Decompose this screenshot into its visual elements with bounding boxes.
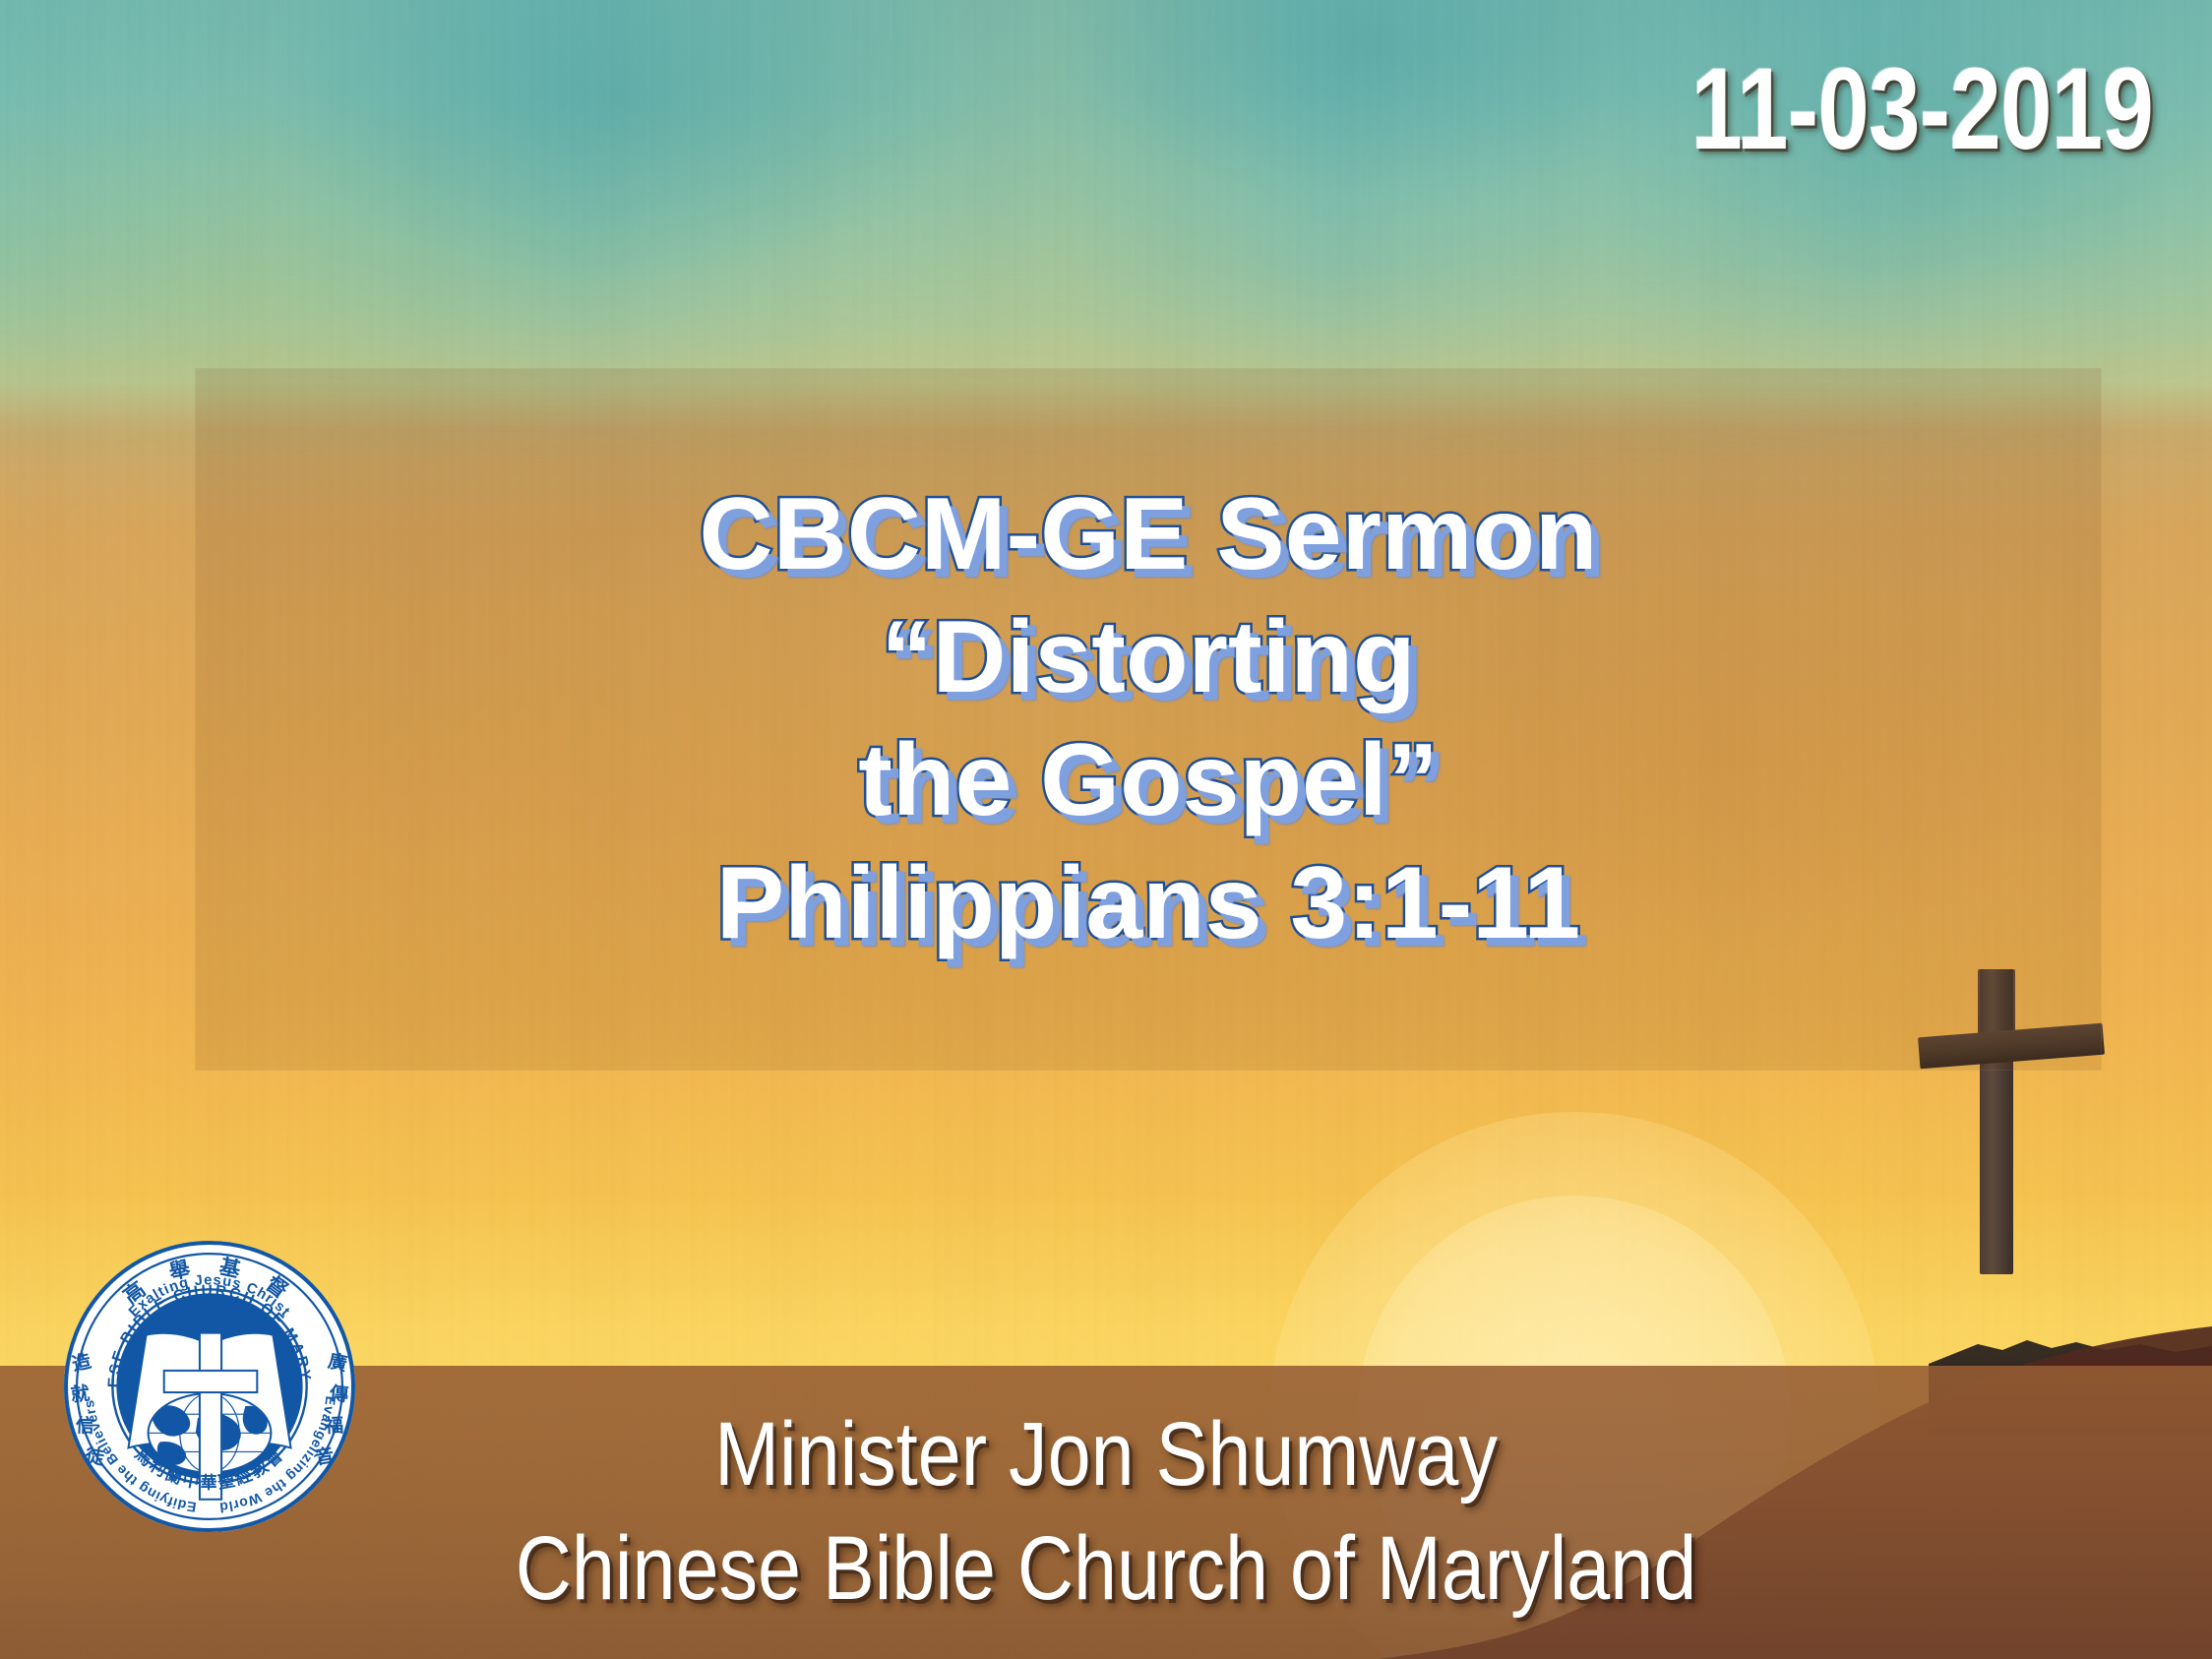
church-name: Chinese Bible Church of Maryland bbox=[516, 1512, 1697, 1627]
svg-text:傳: 傳 bbox=[328, 1382, 350, 1406]
svg-text:信: 信 bbox=[75, 1414, 94, 1438]
title-line-3: the Gospel” bbox=[195, 719, 2102, 842]
title-line-1: CBCM-GE Sermon bbox=[195, 473, 2102, 596]
church-logo: 高 舉 基 督 Exalting Jesus Christ CHINESE BI… bbox=[61, 1238, 358, 1535]
svg-text:福: 福 bbox=[324, 1414, 344, 1438]
speaker-banner-text: Minister Jon Shumway Chinese Bible Churc… bbox=[516, 1398, 1697, 1627]
church-logo-seal: 高 舉 基 督 Exalting Jesus Christ CHINESE BI… bbox=[61, 1238, 358, 1535]
title-overlay-panel: CBCM-GE Sermon “Distorting the Gospel” P… bbox=[195, 368, 2102, 1071]
sermon-date: 11-03-2019 bbox=[1690, 51, 2153, 167]
svg-text:就: 就 bbox=[70, 1382, 91, 1406]
title-line-2: “Distorting bbox=[195, 596, 2102, 719]
sermon-title-slide: 11-03-2019 CBCM-GE Sermon “Distorting th… bbox=[0, 0, 2212, 1659]
speaker-name: Minister Jon Shumway bbox=[516, 1398, 1697, 1512]
svg-text:音: 音 bbox=[313, 1444, 336, 1469]
title-line-4-scripture: Philippians 3:1-11 bbox=[195, 842, 2102, 965]
sermon-title-block: CBCM-GE Sermon “Distorting the Gospel” P… bbox=[195, 473, 2102, 964]
